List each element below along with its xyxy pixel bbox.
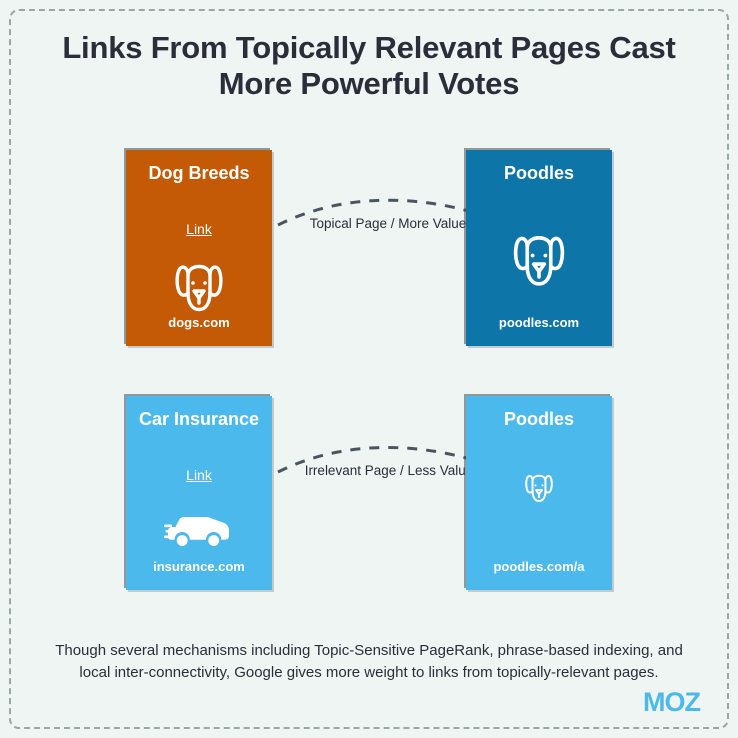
dog-icon [466,472,612,506]
card-url: insurance.com [126,559,272,574]
card-title: Poodles [466,163,612,184]
moz-logo: MOZ [643,689,700,716]
page-title-line-2: More Powerful Votes [40,66,698,102]
car-icon [126,504,272,556]
card-title: Poodles [466,409,612,430]
card-url: poodles.com/a [466,559,612,574]
page-dashed-border [9,9,729,729]
card-title: Car Insurance [126,409,272,430]
dog-icon [126,260,272,320]
card-poodles-irrelevant[interactable]: Poodles poodles.com/a [466,396,612,590]
card-link[interactable]: Link [126,221,272,237]
footer-caption: Though several mechanisms including Topi… [45,640,693,684]
card-dog-breeds[interactable]: Dog Breeds Link dogs.com [126,150,272,346]
page-title-line-1: Links From Topically Relevant Pages Cast [40,30,698,66]
card-url: dogs.com [126,315,272,330]
card-link[interactable]: Link [126,467,272,483]
card-car-insurance[interactable]: Car Insurance Link insurance.com [126,396,272,590]
infographic-canvas: Links From Topically Relevant Pages Cast… [0,0,738,738]
card-poodles-relevant[interactable]: Poodles poodles.com [466,150,612,346]
card-title: Dog Breeds [126,163,272,184]
dog-icon [466,232,612,294]
page-title: Links From Topically Relevant Pages Cast… [40,30,698,102]
card-url: poodles.com [466,315,612,330]
